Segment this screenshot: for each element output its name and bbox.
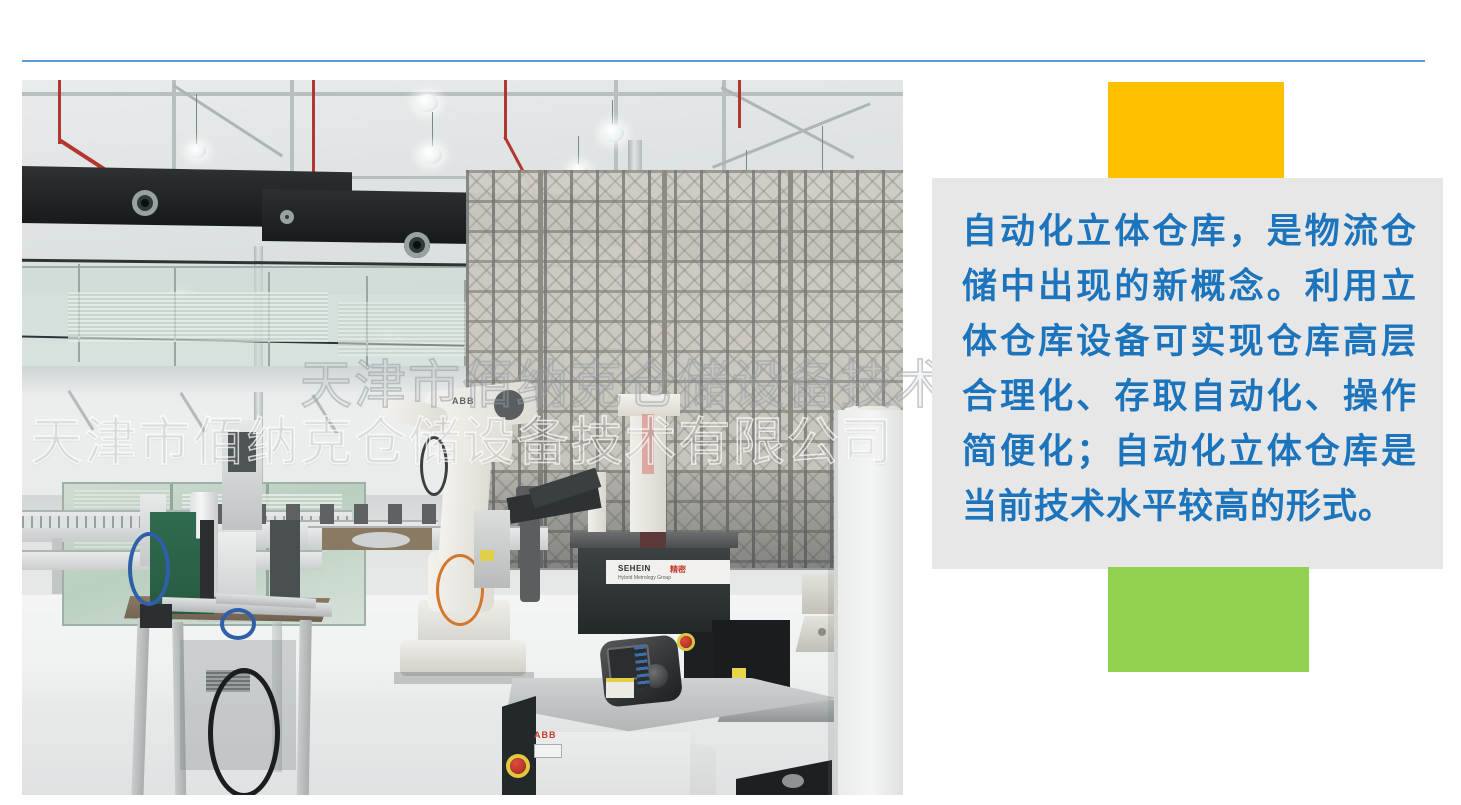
ceiling-lamp	[416, 94, 438, 112]
lamp-wire	[432, 112, 433, 148]
robot-wrist	[494, 390, 524, 420]
machine-body-dark	[270, 520, 300, 600]
warehouse-photo: ABB SEHEIN 精密 Hybrid Metrology Group	[22, 80, 903, 795]
robot-brand-label: ABB	[452, 396, 475, 406]
description-panel: 自动化立体仓库，是物流仓储中出现的新概念。利用立体仓库设备可实现仓库高层合理化、…	[932, 178, 1443, 569]
description-text: 自动化立体仓库，是物流仓储中出现的新概念。利用立体仓库设备可实现仓库高层合理化、…	[962, 204, 1417, 534]
machine-panel	[228, 432, 256, 472]
robot-pedestal	[400, 640, 526, 676]
cabinet-nameplate	[534, 744, 562, 758]
cmm-brand-label: SEHEIN	[618, 564, 651, 573]
duct-fan-icon	[404, 232, 430, 258]
robot-anchor-bolt	[818, 628, 826, 636]
blue-hose	[128, 532, 170, 606]
machine-warn-label	[480, 550, 494, 561]
bracket-hole	[782, 774, 804, 788]
ceiling-lamp	[420, 146, 442, 164]
robot-dresspack	[520, 510, 540, 602]
pendant-label	[606, 678, 634, 698]
robot-cable	[420, 436, 448, 496]
accent-block-green	[1108, 567, 1309, 672]
power-cable	[208, 668, 280, 795]
cmm-base-unit	[578, 544, 730, 634]
blue-hose	[220, 608, 256, 640]
ceiling-lamp	[188, 144, 206, 158]
red-conduit	[738, 80, 741, 128]
cmm-bridge	[618, 394, 680, 416]
fixture-block	[140, 604, 172, 628]
cabinet-door	[530, 732, 690, 795]
fixture-blade	[200, 520, 214, 610]
roof-beam	[22, 92, 903, 96]
duct-fan-icon	[280, 210, 294, 224]
cmm-sub-label: Hybrid Metrology Group	[618, 575, 671, 581]
header-divider	[22, 60, 1425, 62]
lamp-wire	[196, 94, 197, 146]
mezzanine-blinds	[68, 292, 328, 342]
roof-column	[172, 80, 176, 180]
cmm-vertical-text	[642, 414, 654, 474]
duct-fan-icon	[132, 190, 158, 216]
ceiling-lamp	[602, 124, 624, 142]
red-conduit	[504, 80, 507, 140]
cabinet-side-panel	[502, 696, 536, 795]
wall-pillar	[834, 410, 903, 795]
red-conduit	[58, 80, 61, 144]
pillar-shadow	[828, 410, 838, 795]
transfer-pallet-hole	[352, 532, 410, 548]
pendant-estop-button	[680, 636, 692, 648]
roof-column	[290, 80, 294, 180]
lamp-wire	[578, 136, 579, 166]
cabinet-brand-label: ABB	[534, 730, 557, 740]
slide-root: ABB SEHEIN 精密 Hybrid Metrology Group	[0, 0, 1461, 805]
cmm-probe-head	[640, 532, 666, 548]
emergency-stop-button	[510, 758, 526, 774]
machine-guard	[474, 510, 510, 588]
cmm-brand-cn-label: 精密	[670, 564, 686, 575]
accent-block-yellow	[1108, 82, 1284, 181]
